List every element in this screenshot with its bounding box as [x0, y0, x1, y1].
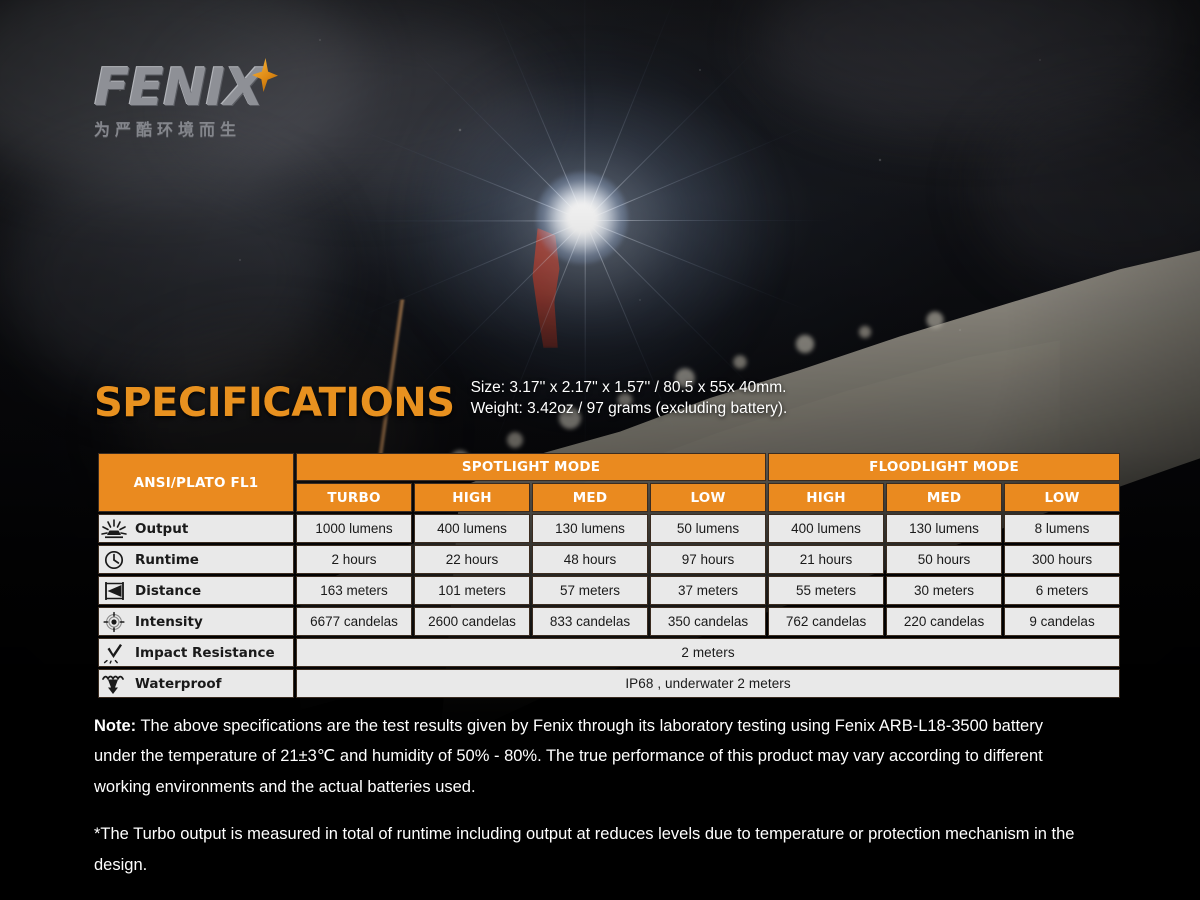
cell-impact-resistance-value: 2 meters: [296, 638, 1120, 667]
cell-intensity-flood-low: 9 candelas: [1004, 607, 1120, 636]
row-label-text: Waterproof: [135, 676, 222, 692]
row-label-runtime: Runtime: [98, 545, 294, 574]
mode-header-spot-turbo: TURBO: [296, 483, 412, 512]
page-title: SPECIFICATIONS: [94, 383, 455, 423]
cell-distance-spot-high: 101 meters: [414, 576, 530, 605]
table-row: Runtime 2 hours 22 hours 48 hours 97 hou…: [98, 545, 1120, 574]
cell-distance-spot-low: 37 meters: [650, 576, 766, 605]
row-label-text: Output: [135, 521, 188, 537]
cell-runtime-flood-high: 21 hours: [768, 545, 884, 574]
cell-intensity-flood-med: 220 candelas: [886, 607, 1002, 636]
notes-section: Note: The above specifications are the t…: [94, 694, 1086, 897]
cell-output-flood-high: 400 lumens: [768, 514, 884, 543]
mode-header-flood-low: LOW: [1004, 483, 1120, 512]
mode-header-flood-med: MED: [886, 483, 1002, 512]
group-header-spotlight: SPOTLIGHT MODE: [296, 453, 766, 481]
cell-output-spot-turbo: 1000 lumens: [296, 514, 412, 543]
cell-runtime-spot-high: 22 hours: [414, 545, 530, 574]
table-group-header-row: ANSI/PLATO FL1 SPOTLIGHT MODE FLOODLIGHT…: [98, 453, 1120, 481]
row-label-intensity: Intensity: [98, 607, 294, 636]
mode-header-spot-high: HIGH: [414, 483, 530, 512]
cell-runtime-flood-med: 50 hours: [886, 545, 1002, 574]
table-row: Impact Resistance 2 meters: [98, 638, 1120, 667]
brand-wordmark: FENIX: [94, 62, 324, 114]
brand-tagline-chinese: 为严酷环境而生: [94, 116, 324, 140]
cell-intensity-spot-low: 350 candelas: [650, 607, 766, 636]
table-corner-label: ANSI/PLATO FL1: [98, 453, 294, 512]
mode-header-spot-low: LOW: [650, 483, 766, 512]
size-line: Size: 3.17'' x 2.17'' x 1.57'' / 80.5 x …: [471, 378, 788, 399]
light-burst-icon: [99, 518, 129, 540]
cell-output-spot-low: 50 lumens: [650, 514, 766, 543]
cell-runtime-spot-low: 97 hours: [650, 545, 766, 574]
mode-header-flood-high: HIGH: [768, 483, 884, 512]
water-submersion-icon: [99, 673, 129, 695]
table-row: Distance 163 meters 101 meters 57 meters…: [98, 576, 1120, 605]
table-row: Intensity 6677 candelas 2600 candelas 83…: [98, 607, 1120, 636]
fenix-logo: FENIX 为严酷环境而生: [94, 62, 324, 142]
cell-runtime-spot-turbo: 2 hours: [296, 545, 412, 574]
drop-impact-icon: [99, 642, 129, 664]
group-header-floodlight: FLOODLIGHT MODE: [768, 453, 1120, 481]
cell-intensity-flood-high: 762 candelas: [768, 607, 884, 636]
note-paragraph-1: Note: The above specifications are the t…: [94, 711, 1086, 803]
cell-output-spot-med: 130 lumens: [532, 514, 648, 543]
row-label-text: Distance: [135, 583, 201, 599]
note-label: Note:: [94, 717, 136, 735]
cell-distance-spot-med: 57 meters: [532, 576, 648, 605]
row-label-text: Intensity: [135, 614, 203, 630]
cell-distance-flood-med: 30 meters: [886, 576, 1002, 605]
row-label-output: Output: [98, 514, 294, 543]
specifications-table-wrapper: ANSI/PLATO FL1 SPOTLIGHT MODE FLOODLIGHT…: [96, 451, 1104, 700]
row-label-distance: Distance: [98, 576, 294, 605]
row-label-impact-resistance: Impact Resistance: [98, 638, 294, 667]
target-intensity-icon: [99, 611, 129, 633]
cell-distance-flood-low: 6 meters: [1004, 576, 1120, 605]
cell-distance-spot-turbo: 163 meters: [296, 576, 412, 605]
weight-line: Weight: 3.42oz / 97 grams (excluding bat…: [471, 399, 788, 420]
clock-icon: [99, 549, 129, 571]
cell-distance-flood-high: 55 meters: [768, 576, 884, 605]
table-row: Output 1000 lumens 400 lumens 130 lumens…: [98, 514, 1120, 543]
cell-intensity-spot-med: 833 candelas: [532, 607, 648, 636]
cell-intensity-spot-high: 2600 candelas: [414, 607, 530, 636]
table-head: ANSI/PLATO FL1 SPOTLIGHT MODE FLOODLIGHT…: [98, 453, 1120, 512]
cell-output-flood-low: 8 lumens: [1004, 514, 1120, 543]
cell-output-spot-high: 400 lumens: [414, 514, 530, 543]
specifications-title-block: SPECIFICATIONS Size: 3.17'' x 2.17'' x 1…: [94, 378, 787, 423]
cell-runtime-spot-med: 48 hours: [532, 545, 648, 574]
specifications-table: ANSI/PLATO FL1 SPOTLIGHT MODE FLOODLIGHT…: [96, 451, 1122, 700]
row-label-text: Runtime: [135, 552, 199, 568]
mode-header-spot-med: MED: [532, 483, 648, 512]
size-weight-block: Size: 3.17'' x 2.17'' x 1.57'' / 80.5 x …: [471, 378, 788, 420]
note-paragraph-2: *The Turbo output is measured in total o…: [94, 819, 1086, 880]
cell-runtime-flood-low: 300 hours: [1004, 545, 1120, 574]
beam-distance-icon: [99, 580, 129, 602]
table-body: Output 1000 lumens 400 lumens 130 lumens…: [98, 514, 1120, 698]
row-label-text: Impact Resistance: [135, 645, 275, 661]
cell-output-flood-med: 130 lumens: [886, 514, 1002, 543]
note-paragraph-1-text: The above specifications are the test re…: [94, 717, 1043, 796]
cell-intensity-spot-turbo: 6677 candelas: [296, 607, 412, 636]
